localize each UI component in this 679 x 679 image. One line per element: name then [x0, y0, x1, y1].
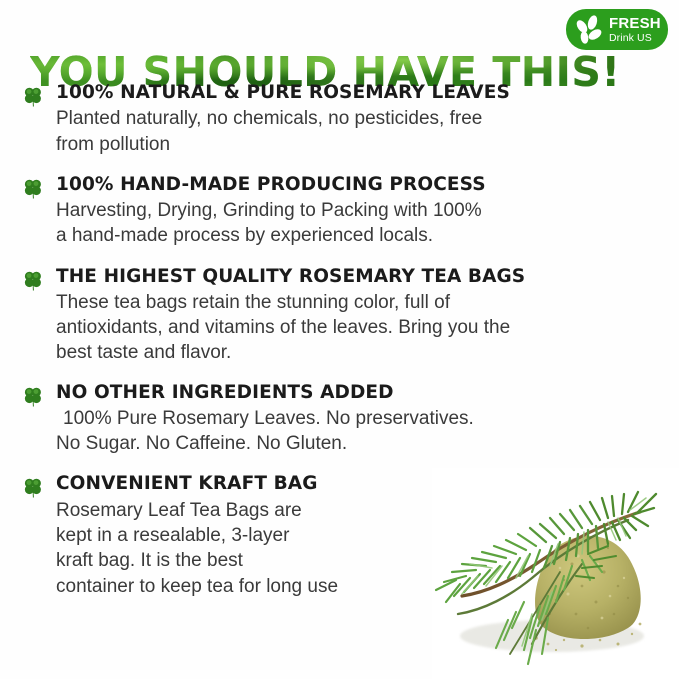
fresh-drink-us-logo: FRESH Drink US: [566, 9, 668, 50]
feature-body: Harvesting, Drying, Grinding to Packing …: [56, 198, 616, 249]
list-item: 100% NATURAL & PURE ROSEMARY LEAVES Plan…: [22, 82, 679, 157]
feature-body: Rosemary Leaf Tea Bags are kept in a res…: [56, 498, 386, 599]
rosemary-sprig-and-powder-photo: [432, 468, 679, 679]
four-leaf-clover-icon: [22, 269, 44, 291]
feature-title: 100% HAND-MADE PRODUCING PROCESS: [56, 174, 679, 195]
list-item: NO OTHER INGREDIENTS ADDED 100% Pure Ros…: [22, 382, 679, 457]
feature-body: These tea bags retain the stunning color…: [56, 290, 616, 366]
four-leaf-clover-icon: [22, 385, 44, 407]
list-item: THE HIGHEST QUALITY ROSEMARY TEA BAGS Th…: [22, 266, 679, 366]
four-leaf-clover-icon: [22, 85, 44, 107]
feature-body: 100% Pure Rosemary Leaves. No preservati…: [56, 406, 616, 457]
list-item: 100% HAND-MADE PRODUCING PROCESS Harvest…: [22, 174, 679, 249]
logo-line-drink-us: Drink US: [609, 33, 661, 44]
feature-title: NO OTHER INGREDIENTS ADDED: [56, 382, 679, 403]
four-leaf-clover-icon: [22, 177, 44, 199]
logo-line-fresh: FRESH: [609, 16, 661, 31]
logo-wordmark: FRESH Drink US: [609, 16, 661, 44]
feature-title: 100% NATURAL & PURE ROSEMARY LEAVES: [56, 82, 679, 103]
leaf-cluster-icon: [573, 14, 606, 46]
four-leaf-clover-icon: [22, 476, 44, 498]
feature-body: Planted naturally, no chemicals, no pest…: [56, 106, 616, 157]
feature-title: THE HIGHEST QUALITY ROSEMARY TEA BAGS: [56, 266, 679, 287]
